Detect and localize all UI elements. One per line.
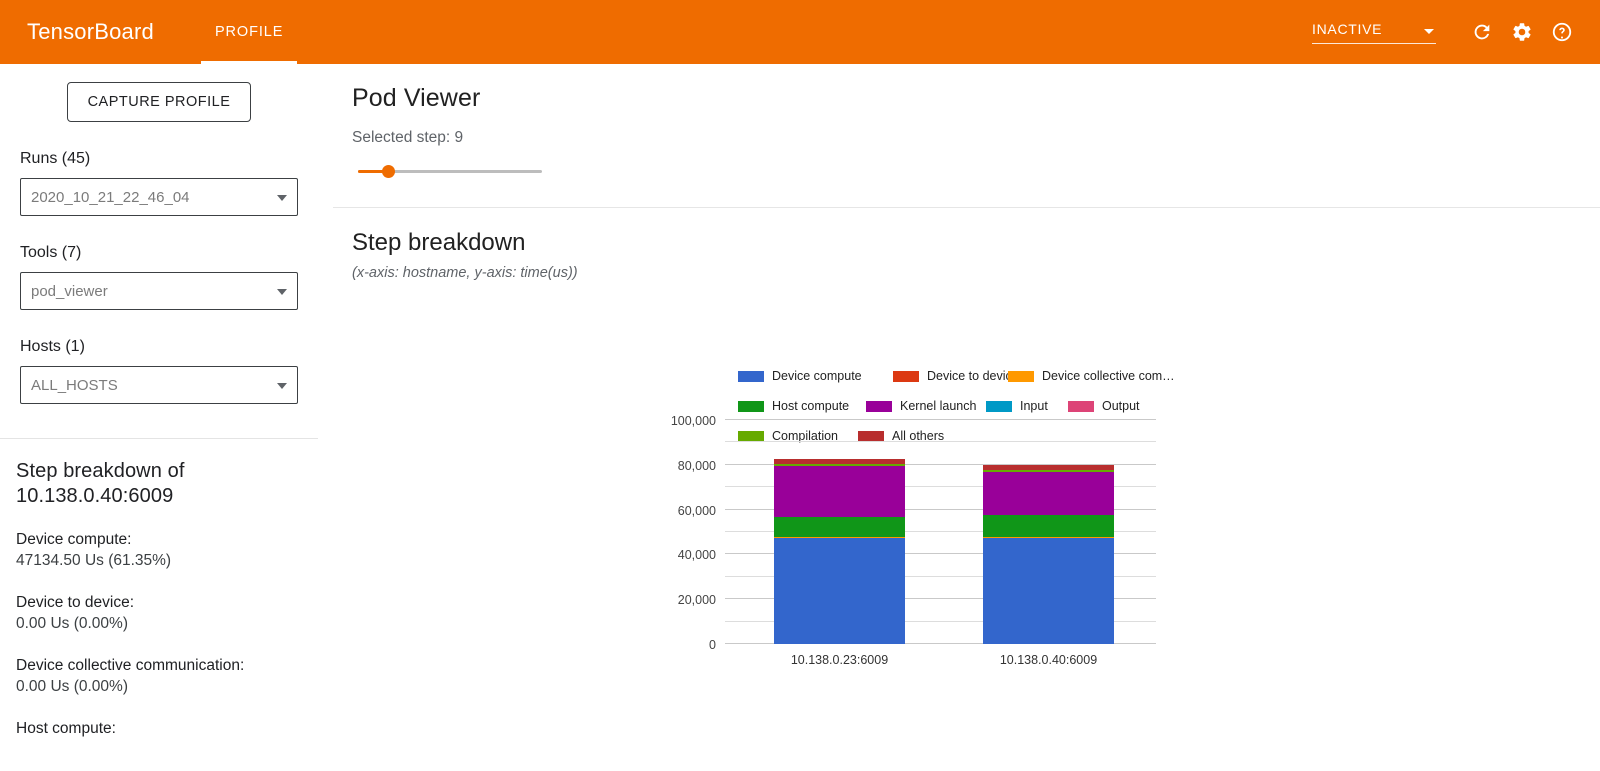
bar-segment[interactable] xyxy=(774,466,905,517)
detail-row: Device compute: 47134.50 Us (61.35%) xyxy=(16,530,302,572)
detail-value: 47134.50 Us (61.35%) xyxy=(16,550,302,572)
hosts-select[interactable]: ALL_HOSTS xyxy=(20,366,298,404)
x-axis-tick-label: 10.138.0.40:6009 xyxy=(983,653,1114,667)
reload-button[interactable] xyxy=(1462,12,1502,52)
chevron-down-icon xyxy=(277,289,287,295)
chevron-down-icon xyxy=(277,383,287,389)
chevron-down-icon xyxy=(277,195,287,201)
detail-value: 0.00 Us (0.00%) xyxy=(16,613,302,635)
legend-row: Device computeDevice to deviceDevice col… xyxy=(738,369,1178,384)
tools-field: Tools (7) pod_viewer xyxy=(0,244,318,310)
legend-item[interactable]: Device collective com… xyxy=(1008,369,1175,383)
y-axis-tick-label: 60,000 xyxy=(678,504,716,518)
nav-tabs: PROFILE xyxy=(201,0,297,64)
chart-subtitle: (x-axis: hostname, y-axis: time(us)) xyxy=(352,265,1600,281)
bar-stack[interactable] xyxy=(983,465,1114,644)
tensorboard-logo: TensorBoard xyxy=(27,19,154,45)
legend-label: Device to device xyxy=(927,369,1019,383)
chart-title: Step breakdown xyxy=(352,229,1600,257)
settings-gear-icon xyxy=(1511,21,1533,43)
detail-row: Device collective communication: 0.00 Us… xyxy=(16,656,302,698)
top-app-bar: TensorBoard PROFILE INACTIVE xyxy=(0,0,1600,64)
legend-swatch xyxy=(893,371,919,382)
sidebar: CAPTURE PROFILE Runs (45) 2020_10_21_22_… xyxy=(0,64,318,771)
capture-profile-wrap: CAPTURE PROFILE xyxy=(0,64,318,122)
legend-row: Host computeKernel launchInputOutput xyxy=(738,384,1178,399)
legend-swatch xyxy=(738,371,764,382)
run-status-dropdown[interactable]: INACTIVE xyxy=(1312,21,1436,44)
settings-button[interactable] xyxy=(1502,12,1542,52)
tools-select[interactable]: pod_viewer xyxy=(20,272,298,310)
detail-key: Host compute: xyxy=(16,719,302,739)
y-axis-tick-label: 40,000 xyxy=(678,548,716,562)
selected-step-label: Selected step: 9 xyxy=(352,129,1600,147)
runs-field: Runs (45) 2020_10_21_22_46_04 xyxy=(0,150,318,216)
legend-label: Device collective com… xyxy=(1042,369,1175,383)
legend-row: CompilationAll others xyxy=(738,399,1178,414)
y-axis-tick-label: 100,000 xyxy=(671,414,716,428)
tools-selected-value: pod_viewer xyxy=(31,283,108,300)
tab-profile[interactable]: PROFILE xyxy=(201,0,297,64)
chart-legend: Device computeDevice to deviceDevice col… xyxy=(738,369,1178,414)
bar-segment[interactable] xyxy=(983,472,1114,516)
legend-item[interactable]: Device compute xyxy=(738,369,862,383)
help-question-icon xyxy=(1551,21,1573,43)
runs-select[interactable]: 2020_10_21_22_46_04 xyxy=(20,178,298,216)
run-status-value: INACTIVE xyxy=(1312,21,1382,37)
runs-label: Runs (45) xyxy=(20,150,298,168)
gridline xyxy=(725,419,1156,420)
step-slider[interactable] xyxy=(358,164,542,178)
detail-key: Device to device: xyxy=(16,593,302,613)
chevron-down-icon xyxy=(1424,29,1434,34)
gridline-minor xyxy=(725,441,1156,442)
capture-profile-button[interactable]: CAPTURE PROFILE xyxy=(67,82,252,122)
detail-panel-title: Step breakdown of 10.138.0.40:6009 xyxy=(16,459,302,509)
detail-key: Device collective communication: xyxy=(16,656,302,676)
bar-segment[interactable] xyxy=(983,515,1114,537)
y-axis-tick-label: 20,000 xyxy=(678,593,716,607)
y-axis-tick-label: 0 xyxy=(709,638,716,652)
bar-segment[interactable] xyxy=(774,517,905,537)
bar-segment[interactable] xyxy=(774,538,905,644)
step-breakdown-chart[interactable]: 020,00040,00060,00080,000100,00010.138.0… xyxy=(725,420,1156,644)
detail-key: Device compute: xyxy=(16,530,302,550)
bar-stack[interactable] xyxy=(774,459,905,644)
main-content: Pod Viewer Selected step: 9 Step breakdo… xyxy=(333,64,1600,771)
legend-swatch xyxy=(1008,371,1034,382)
detail-row-partial: Host compute: xyxy=(16,719,302,739)
x-axis-tick-label: 10.138.0.23:6009 xyxy=(774,653,905,667)
detail-row: Device to device: 0.00 Us (0.00%) xyxy=(16,593,302,635)
tools-label: Tools (7) xyxy=(20,244,298,262)
runs-selected-value: 2020_10_21_22_46_04 xyxy=(31,189,190,206)
reload-icon xyxy=(1471,21,1493,43)
appbar-actions: INACTIVE xyxy=(1312,12,1582,52)
step-breakdown-detail: Step breakdown of 10.138.0.40:6009 Devic… xyxy=(0,439,318,739)
legend-item[interactable]: Device to device xyxy=(893,369,1019,383)
page-title: Pod Viewer xyxy=(352,84,1600,113)
detail-value: 0.00 Us (0.00%) xyxy=(16,676,302,698)
bar-segment[interactable] xyxy=(983,538,1114,644)
legend-label: Device compute xyxy=(772,369,862,383)
y-axis-tick-label: 80,000 xyxy=(678,459,716,473)
hosts-selected-value: ALL_HOSTS xyxy=(31,377,118,394)
content-divider xyxy=(333,207,1600,208)
hosts-field: Hosts (1) ALL_HOSTS xyxy=(0,338,318,404)
slider-thumb[interactable] xyxy=(382,165,395,178)
hosts-label: Hosts (1) xyxy=(20,338,298,356)
help-button[interactable] xyxy=(1542,12,1582,52)
